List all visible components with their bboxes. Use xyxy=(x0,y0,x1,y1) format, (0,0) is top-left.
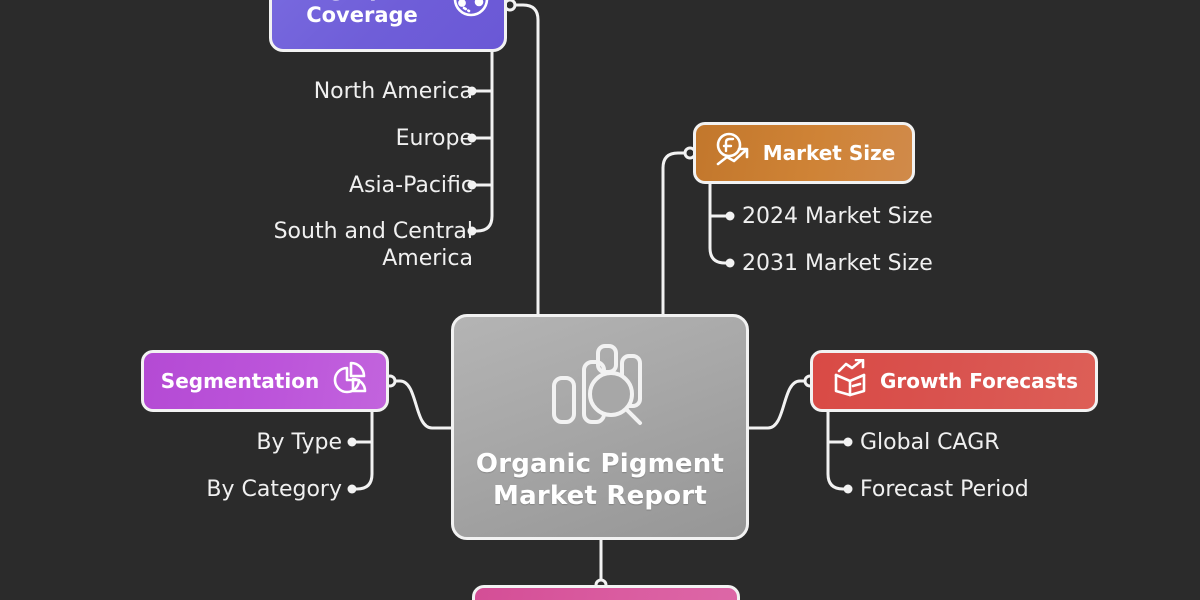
branch-node-market-size[interactable]: Market Size xyxy=(693,122,915,184)
segmentation-label: Segmentation xyxy=(161,369,319,393)
leaf-segmentation-by-category: By Category xyxy=(92,476,342,503)
mindmap-canvas: Organic Pigment Market Report Geographic… xyxy=(0,0,1200,600)
connector-center-to-segmentation xyxy=(390,381,451,428)
box-growth-arrow-icon xyxy=(830,359,870,404)
geographical-coverage-label: Geographical Coverage xyxy=(284,0,440,28)
leaf-geographical-north-america: North America xyxy=(213,78,473,105)
leaf-geographical-asia-pacific: Asia-Pacific xyxy=(213,172,473,199)
branch-node-growth-forecasts[interactable]: Growth Forecasts xyxy=(810,350,1098,412)
leaf-dot-market-size-0 xyxy=(726,212,735,221)
bar-chart-magnifier-icon xyxy=(548,342,652,432)
pie-chart-icon xyxy=(329,359,369,404)
leaf-market-size-2024: 2024 Market Size xyxy=(742,203,933,230)
leaf-dot-market-size-1 xyxy=(726,259,735,268)
center-node-organic-pigment-market-report[interactable]: Organic Pigment Market Report xyxy=(451,314,749,540)
branch-node-bottom-clipped[interactable] xyxy=(472,585,740,600)
leaf-segmentation-by-type: By Type xyxy=(92,429,342,456)
growth-forecasts-label: Growth Forecasts xyxy=(880,369,1078,393)
spine-growth xyxy=(828,412,848,489)
leaf-dot-growth-0 xyxy=(844,438,853,447)
spine-segmentation xyxy=(352,412,372,489)
branch-node-segmentation[interactable]: Segmentation xyxy=(141,350,389,412)
connector-center-to-market-size xyxy=(663,153,690,314)
connector-center-to-growth xyxy=(749,381,810,428)
leaf-geographical-south-and-central-america: South and Central America xyxy=(218,218,473,272)
leaf-growth-global-cagr: Global CAGR xyxy=(860,429,1000,456)
center-node-label: Organic Pigment Market Report xyxy=(476,448,724,512)
globe-network-icon xyxy=(450,0,492,26)
leaf-dot-segmentation-0 xyxy=(348,438,357,447)
leaf-dot-segmentation-1 xyxy=(348,485,357,494)
currency-trend-icon xyxy=(713,131,753,176)
branch-node-geographical-coverage[interactable]: Geographical Coverage xyxy=(269,0,507,52)
spine-market-size xyxy=(710,184,730,263)
leaf-geographical-europe: Europe xyxy=(213,125,473,152)
leaf-market-size-2031: 2031 Market Size xyxy=(742,250,933,277)
spine-geographical xyxy=(472,52,492,231)
leaf-growth-forecast-period: Forecast Period xyxy=(860,476,1029,503)
market-size-label: Market Size xyxy=(763,141,896,165)
leaf-dot-growth-1 xyxy=(844,485,853,494)
connector-center-to-geographical xyxy=(507,5,538,314)
